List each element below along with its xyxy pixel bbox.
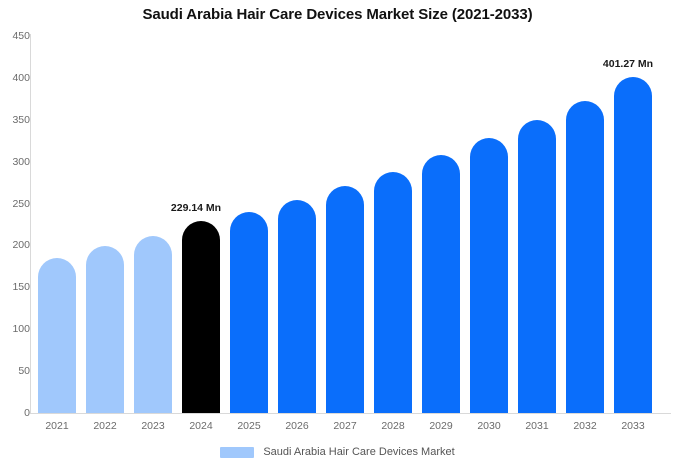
bar-slot: [513, 36, 561, 413]
bar-slot: [81, 36, 129, 413]
bar-slot: 229.14 Mn: [177, 36, 225, 413]
y-axis-tick-300: 300: [4, 156, 30, 168]
x-axis-tick-2026: 2026: [273, 420, 321, 432]
bar-slot: [129, 36, 177, 413]
bar-slot: [273, 36, 321, 413]
x-axis-tick-2023: 2023: [129, 420, 177, 432]
y-axis-tick-250: 250: [4, 198, 30, 210]
y-axis-tick-50: 50: [4, 365, 30, 377]
bar-value-label-2033: 401.27 Mn: [600, 58, 656, 70]
x-axis-tick-2032: 2032: [561, 420, 609, 432]
bar-value-label-2024: 229.14 Mn: [168, 202, 224, 214]
y-axis-tick-100: 100: [4, 323, 30, 335]
bar-slot: [225, 36, 273, 413]
bar-slot: [561, 36, 609, 413]
legend-swatch-icon: [220, 447, 254, 458]
x-axis-tick-2033: 2033: [609, 420, 657, 432]
bar-slot: 401.27 Mn: [609, 36, 657, 413]
x-axis-tick-2022: 2022: [81, 420, 129, 432]
chart-container: Saudi Arabia Hair Care Devices Market Si…: [0, 0, 675, 469]
bar-2021[interactable]: [38, 258, 76, 413]
x-axis-tick-2029: 2029: [417, 420, 465, 432]
y-axis-tick-labels: 050100150200250300350400450: [0, 0, 30, 469]
bar-2031[interactable]: [518, 120, 556, 413]
bar-2026[interactable]: [278, 200, 316, 413]
x-axis-tick-2024: 2024: [177, 420, 225, 432]
bars-group: 229.14 Mn401.27 Mn: [31, 36, 671, 413]
y-axis-tick-450: 450: [4, 30, 30, 42]
x-axis-tick-2025: 2025: [225, 420, 273, 432]
bar-slot: [417, 36, 465, 413]
bar-2030[interactable]: [470, 138, 508, 413]
legend-label: Saudi Arabia Hair Care Devices Market: [263, 446, 454, 458]
x-axis-tick-2021: 2021: [33, 420, 81, 432]
bar-slot: [369, 36, 417, 413]
x-axis-tick-2031: 2031: [513, 420, 561, 432]
bar-2022[interactable]: [86, 246, 124, 413]
x-axis-tick-2027: 2027: [321, 420, 369, 432]
bar-2023[interactable]: [134, 236, 172, 413]
bar-slot: [33, 36, 81, 413]
y-axis-tick-200: 200: [4, 239, 30, 251]
bar-slot: [465, 36, 513, 413]
bar-2028[interactable]: [374, 172, 412, 413]
x-axis-tick-2030: 2030: [465, 420, 513, 432]
y-axis-tick-350: 350: [4, 114, 30, 126]
bar-2024[interactable]: [182, 221, 220, 413]
chart-legend: Saudi Arabia Hair Care Devices Market: [0, 446, 675, 458]
y-axis-tick-0: 0: [4, 407, 30, 419]
x-axis-tick-2028: 2028: [369, 420, 417, 432]
x-axis-line: [30, 413, 671, 414]
y-axis-tick-150: 150: [4, 281, 30, 293]
y-axis-tick-400: 400: [4, 72, 30, 84]
bar-2033[interactable]: [614, 77, 652, 413]
bar-slot: [321, 36, 369, 413]
bar-2027[interactable]: [326, 186, 364, 413]
chart-title: Saudi Arabia Hair Care Devices Market Si…: [0, 6, 675, 23]
bar-2025[interactable]: [230, 212, 268, 413]
bar-2032[interactable]: [566, 101, 604, 413]
bar-2029[interactable]: [422, 155, 460, 413]
